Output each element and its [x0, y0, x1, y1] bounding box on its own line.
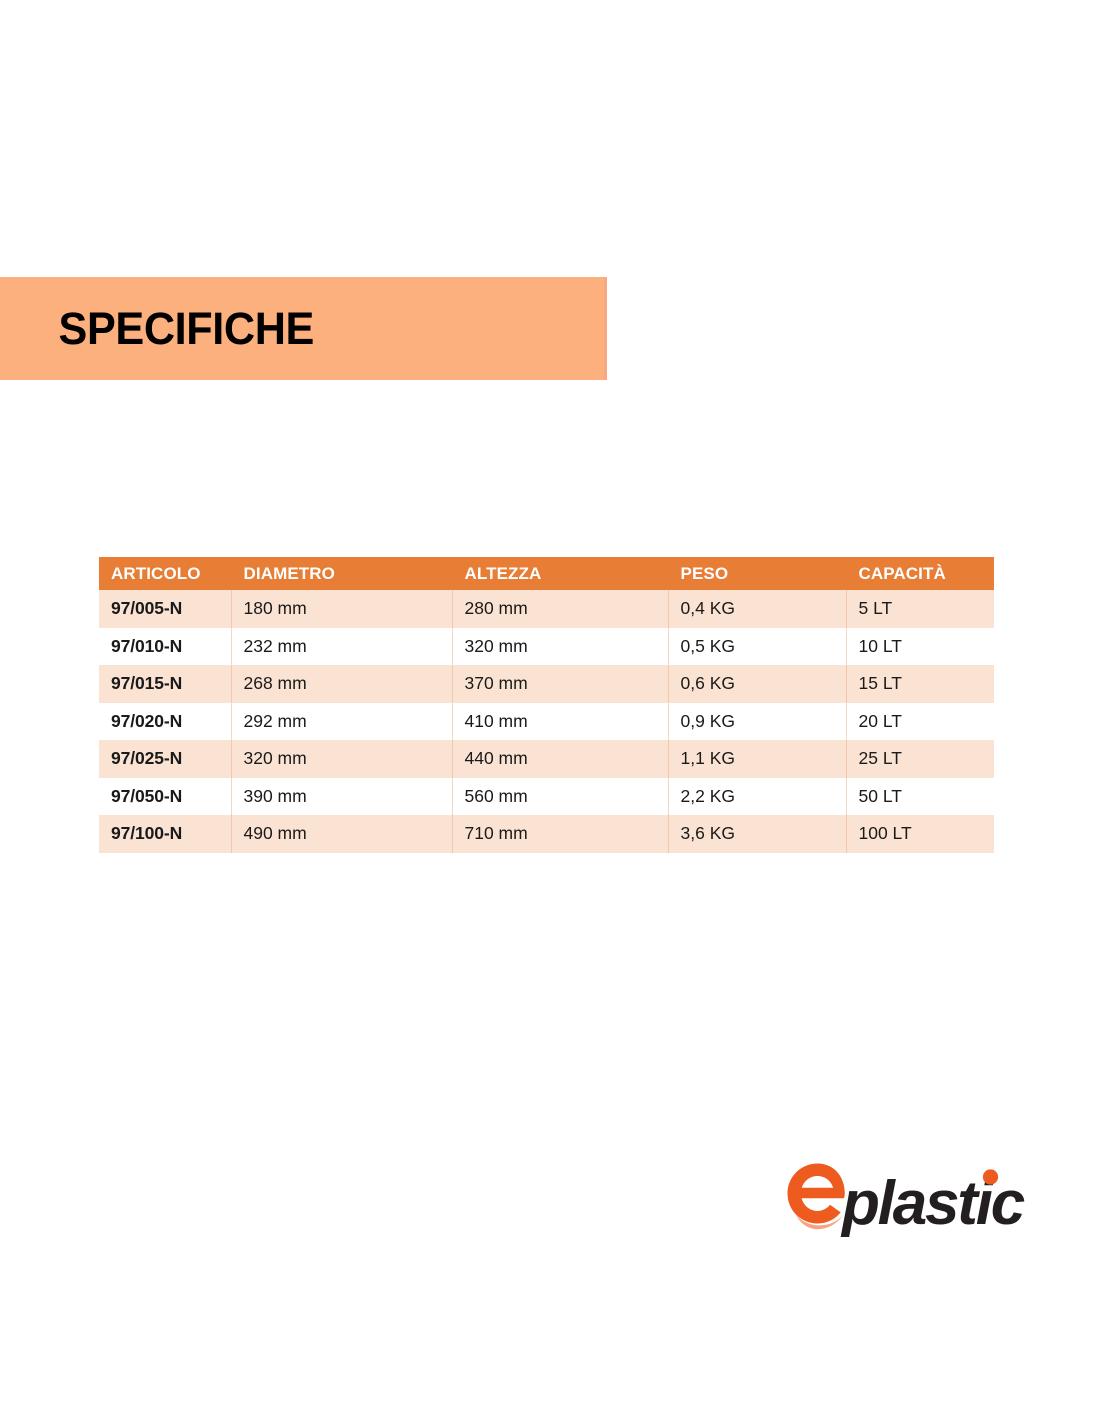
spec-table-container: ARTICOLO DIAMETRO ALTEZZA PESO CAPACITÀ …	[99, 557, 994, 853]
cell-capacita: 25 LT	[846, 740, 994, 778]
table-row: 97/005-N 180 mm 280 mm 0,4 KG 5 LT	[99, 590, 994, 628]
logo-e-mark	[788, 1164, 845, 1230]
cell-altezza: 410 mm	[452, 703, 668, 741]
table-row: 97/010-N 232 mm 320 mm 0,5 KG 10 LT	[99, 628, 994, 666]
cell-altezza: 440 mm	[452, 740, 668, 778]
cell-diametro: 390 mm	[231, 778, 452, 816]
logo-text: eplastic	[786, 1244, 787, 1245]
cell-diametro: 268 mm	[231, 665, 452, 703]
column-header-diametro: DIAMETRO	[231, 557, 452, 590]
cell-peso: 0,4 KG	[668, 590, 846, 628]
cell-articolo: 97/010-N	[99, 628, 231, 666]
column-header-altezza: ALTEZZA	[452, 557, 668, 590]
table-header-row: ARTICOLO DIAMETRO ALTEZZA PESO CAPACITÀ	[99, 557, 994, 590]
cell-articolo: 97/020-N	[99, 703, 231, 741]
table-header: ARTICOLO DIAMETRO ALTEZZA PESO CAPACITÀ	[99, 557, 994, 590]
cell-articolo: 97/050-N	[99, 778, 231, 816]
cell-altezza: 320 mm	[452, 628, 668, 666]
cell-diametro: 232 mm	[231, 628, 452, 666]
page-title: SPECIFICHE	[0, 306, 314, 351]
cell-articolo: 97/100-N	[99, 815, 231, 853]
cell-peso: 0,6 KG	[668, 665, 846, 703]
cell-peso: 3,6 KG	[668, 815, 846, 853]
logo-i-dot-icon	[983, 1169, 998, 1184]
cell-capacita: 15 LT	[846, 665, 994, 703]
cell-peso: 2,2 KG	[668, 778, 846, 816]
cell-capacita: 10 LT	[846, 628, 994, 666]
table-body: 97/005-N 180 mm 280 mm 0,4 KG 5 LT 97/01…	[99, 590, 994, 853]
table-row: 97/020-N 292 mm 410 mm 0,9 KG 20 LT	[99, 703, 994, 741]
cell-capacita: 50 LT	[846, 778, 994, 816]
cell-diametro: 320 mm	[231, 740, 452, 778]
eplastic-logo-icon: plastic	[786, 1158, 1034, 1244]
cell-altezza: 560 mm	[452, 778, 668, 816]
column-header-peso: PESO	[668, 557, 846, 590]
table-row: 97/050-N 390 mm 560 mm 2,2 KG 50 LT	[99, 778, 994, 816]
cell-altezza: 710 mm	[452, 815, 668, 853]
cell-articolo: 97/015-N	[99, 665, 231, 703]
cell-capacita: 100 LT	[846, 815, 994, 853]
table-row: 97/100-N 490 mm 710 mm 3,6 KG 100 LT	[99, 815, 994, 853]
cell-capacita: 20 LT	[846, 703, 994, 741]
table-row: 97/015-N 268 mm 370 mm 0,6 KG 15 LT	[99, 665, 994, 703]
cell-capacita: 5 LT	[846, 590, 994, 628]
cell-diametro: 180 mm	[231, 590, 452, 628]
cell-peso: 0,9 KG	[668, 703, 846, 741]
cell-articolo: 97/005-N	[99, 590, 231, 628]
specifications-table: ARTICOLO DIAMETRO ALTEZZA PESO CAPACITÀ …	[99, 557, 994, 853]
table-row: 97/025-N 320 mm 440 mm 1,1 KG 25 LT	[99, 740, 994, 778]
cell-diametro: 292 mm	[231, 703, 452, 741]
cell-diametro: 490 mm	[231, 815, 452, 853]
column-header-capacita: CAPACITÀ	[846, 557, 994, 590]
eplastic-logo: plastic eplastic	[786, 1158, 1034, 1244]
cell-altezza: 280 mm	[452, 590, 668, 628]
cell-peso: 0,5 KG	[668, 628, 846, 666]
column-header-articolo: ARTICOLO	[99, 557, 231, 590]
cell-altezza: 370 mm	[452, 665, 668, 703]
cell-articolo: 97/025-N	[99, 740, 231, 778]
specifiche-banner: SPECIFICHE	[0, 277, 607, 380]
cell-peso: 1,1 KG	[668, 740, 846, 778]
